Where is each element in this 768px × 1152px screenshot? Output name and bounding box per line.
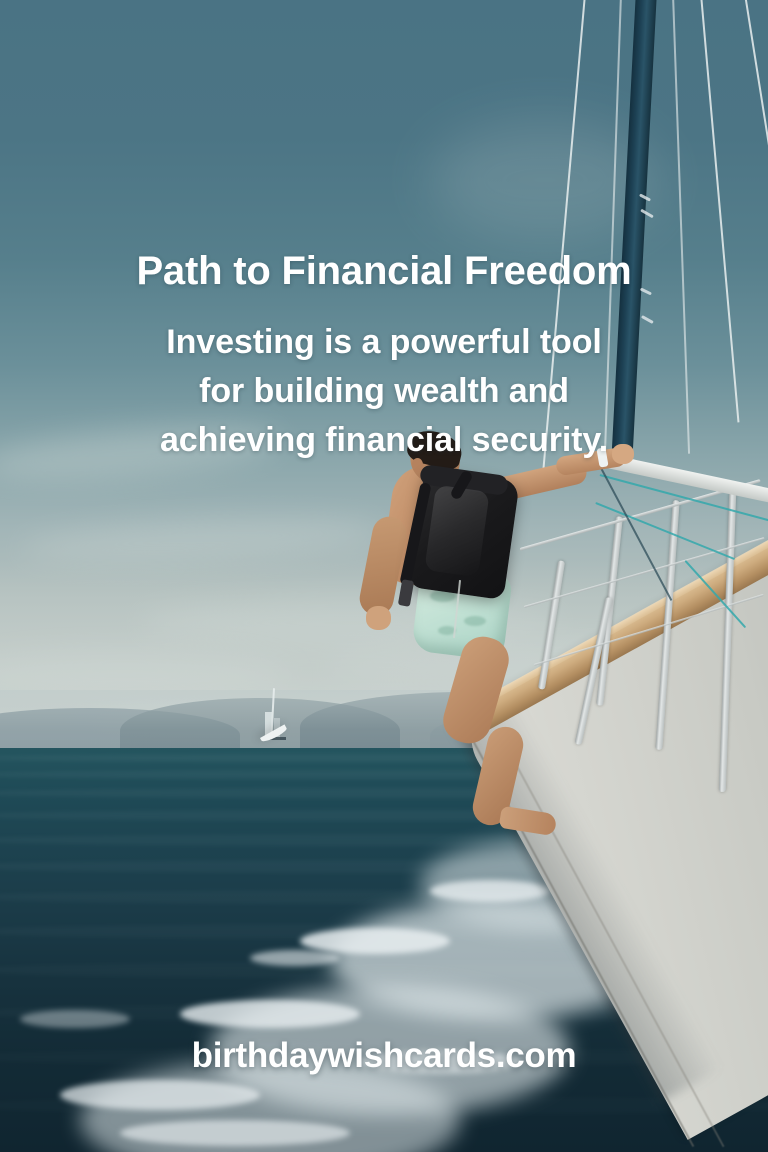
left-hand <box>366 606 391 630</box>
man-on-boat <box>360 430 660 790</box>
backpack-clip <box>398 579 414 607</box>
subtitle-line: for building wealth and <box>0 367 768 416</box>
subtitle-line: achieving financial security. <box>0 416 768 465</box>
card-subtitle: Investing is a powerful tool for buildin… <box>0 318 768 465</box>
subtitle-line: Investing is a powerful tool <box>0 318 768 367</box>
page-title: Path to Financial Freedom <box>0 249 768 294</box>
website-watermark: birthdaywishcards.com <box>0 1036 768 1076</box>
greeting-card: Path to Financial Freedom Investing is a… <box>0 0 768 1152</box>
